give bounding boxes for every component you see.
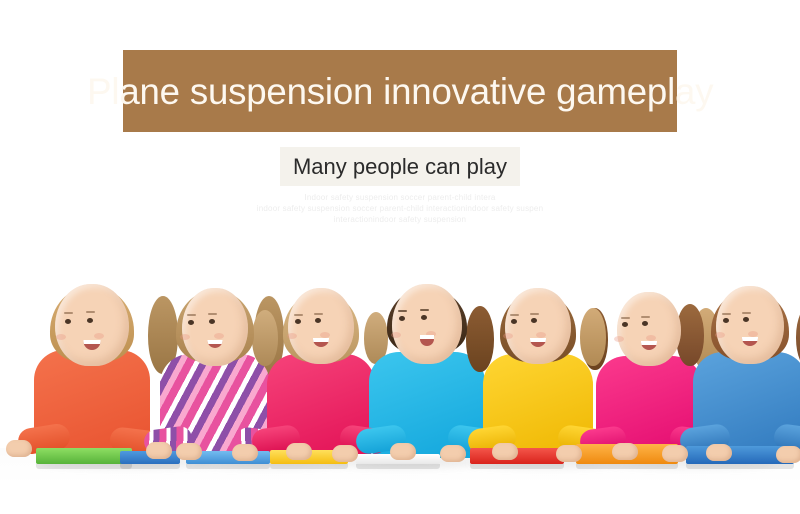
- child-6-brow-right: [641, 316, 650, 318]
- child-4-head: [392, 284, 462, 364]
- child-2-brow-right: [208, 313, 217, 315]
- child-7-brow-right: [742, 312, 751, 314]
- child-5-cheek-left: [503, 333, 513, 339]
- child-5-eye-left: [511, 319, 517, 324]
- child-3-head: [288, 288, 354, 364]
- child-2-head: [182, 288, 248, 366]
- children-photo: [0, 252, 800, 514]
- child-2-cheek-right: [214, 333, 224, 339]
- child-4-brow-right: [420, 309, 429, 311]
- child-7-hand-right: [776, 446, 800, 463]
- child-1-cheek-right: [94, 333, 104, 339]
- child-4-cheek-left: [391, 332, 401, 338]
- child-6-head: [617, 292, 681, 366]
- child-1-eye-left: [65, 319, 71, 324]
- child-4-hand-left: [390, 443, 416, 460]
- child-5-brow-left: [510, 314, 519, 316]
- child-7-brow-left: [722, 313, 731, 315]
- child-7-eye-left: [723, 318, 729, 323]
- subtitle-plate: Many people can play: [280, 147, 520, 186]
- child-3-hair-left: [252, 310, 278, 366]
- child-6-cheek-left: [614, 336, 624, 342]
- child-2-eye-left: [188, 320, 194, 325]
- child-4-eye-right: [421, 315, 427, 320]
- child-1-hand-right: [146, 442, 172, 459]
- child-2-cheek-left: [180, 334, 190, 340]
- child-3-hand-left: [286, 443, 312, 460]
- child-6-eye-right: [642, 321, 648, 326]
- child-4-eye-left: [399, 316, 405, 321]
- child-5-hand-right: [556, 445, 582, 462]
- child-2-hand-left: [176, 443, 202, 460]
- headline-banner: Plane suspension innovative gameplay: [123, 50, 677, 132]
- child-7-hand-left: [706, 444, 732, 461]
- child-1-brow-right: [86, 311, 95, 313]
- child-5-yellow-cardigan-girl: [474, 262, 602, 458]
- headline-text: Plane suspension innovative gameplay: [87, 73, 713, 110]
- child-6-hand-left: [612, 443, 638, 460]
- child-6-hand-right: [662, 445, 688, 462]
- child-3-hand-right: [332, 445, 358, 462]
- child-6-hair-left: [580, 308, 606, 366]
- child-1-orange-shirt-boy: [22, 268, 162, 458]
- child-1-cheek-left: [56, 334, 66, 340]
- child-1-eye-right: [87, 318, 93, 323]
- child-2-brow-left: [187, 314, 196, 316]
- child-3-brow-left: [294, 314, 303, 316]
- child-4-brow-left: [398, 310, 407, 312]
- child-1-hand-left: [6, 440, 32, 457]
- child-5-eye-right: [531, 318, 537, 323]
- child-3-cheek-left: [287, 333, 297, 339]
- child-5-hair-left: [466, 306, 494, 372]
- child-7-cheek-left: [715, 332, 725, 338]
- child-2-hand-right: [232, 444, 258, 461]
- child-1-head: [55, 284, 129, 366]
- child-5-hand-left: [492, 443, 518, 460]
- child-6-brow-left: [621, 317, 630, 319]
- keyword-line-2: indoor safety suspension soccer parent-c…: [0, 203, 800, 214]
- child-7-eye-right: [743, 317, 749, 322]
- keyword-block: Indoor safety suspension soccer parent-c…: [0, 192, 800, 225]
- promo-banner-page: Plane suspension innovative gameplay Man…: [0, 0, 800, 514]
- child-6-eye-left: [622, 322, 628, 327]
- keyword-line-1: Indoor safety suspension soccer parent-c…: [0, 192, 800, 203]
- child-3-brow-right: [314, 313, 323, 315]
- child-1-brow-left: [64, 312, 73, 314]
- child-3-eye-right: [315, 318, 321, 323]
- child-5-head: [505, 288, 571, 364]
- child-7-head: [716, 286, 784, 364]
- keyword-line-3: interactionindoor safety suspension: [0, 214, 800, 225]
- subtitle-text: Many people can play: [293, 156, 507, 178]
- child-3-eye-left: [295, 319, 301, 324]
- child-5-brow-right: [530, 313, 539, 315]
- book-green: [36, 448, 132, 464]
- child-2-eye-right: [209, 319, 215, 324]
- child-4-hand-right: [440, 445, 466, 462]
